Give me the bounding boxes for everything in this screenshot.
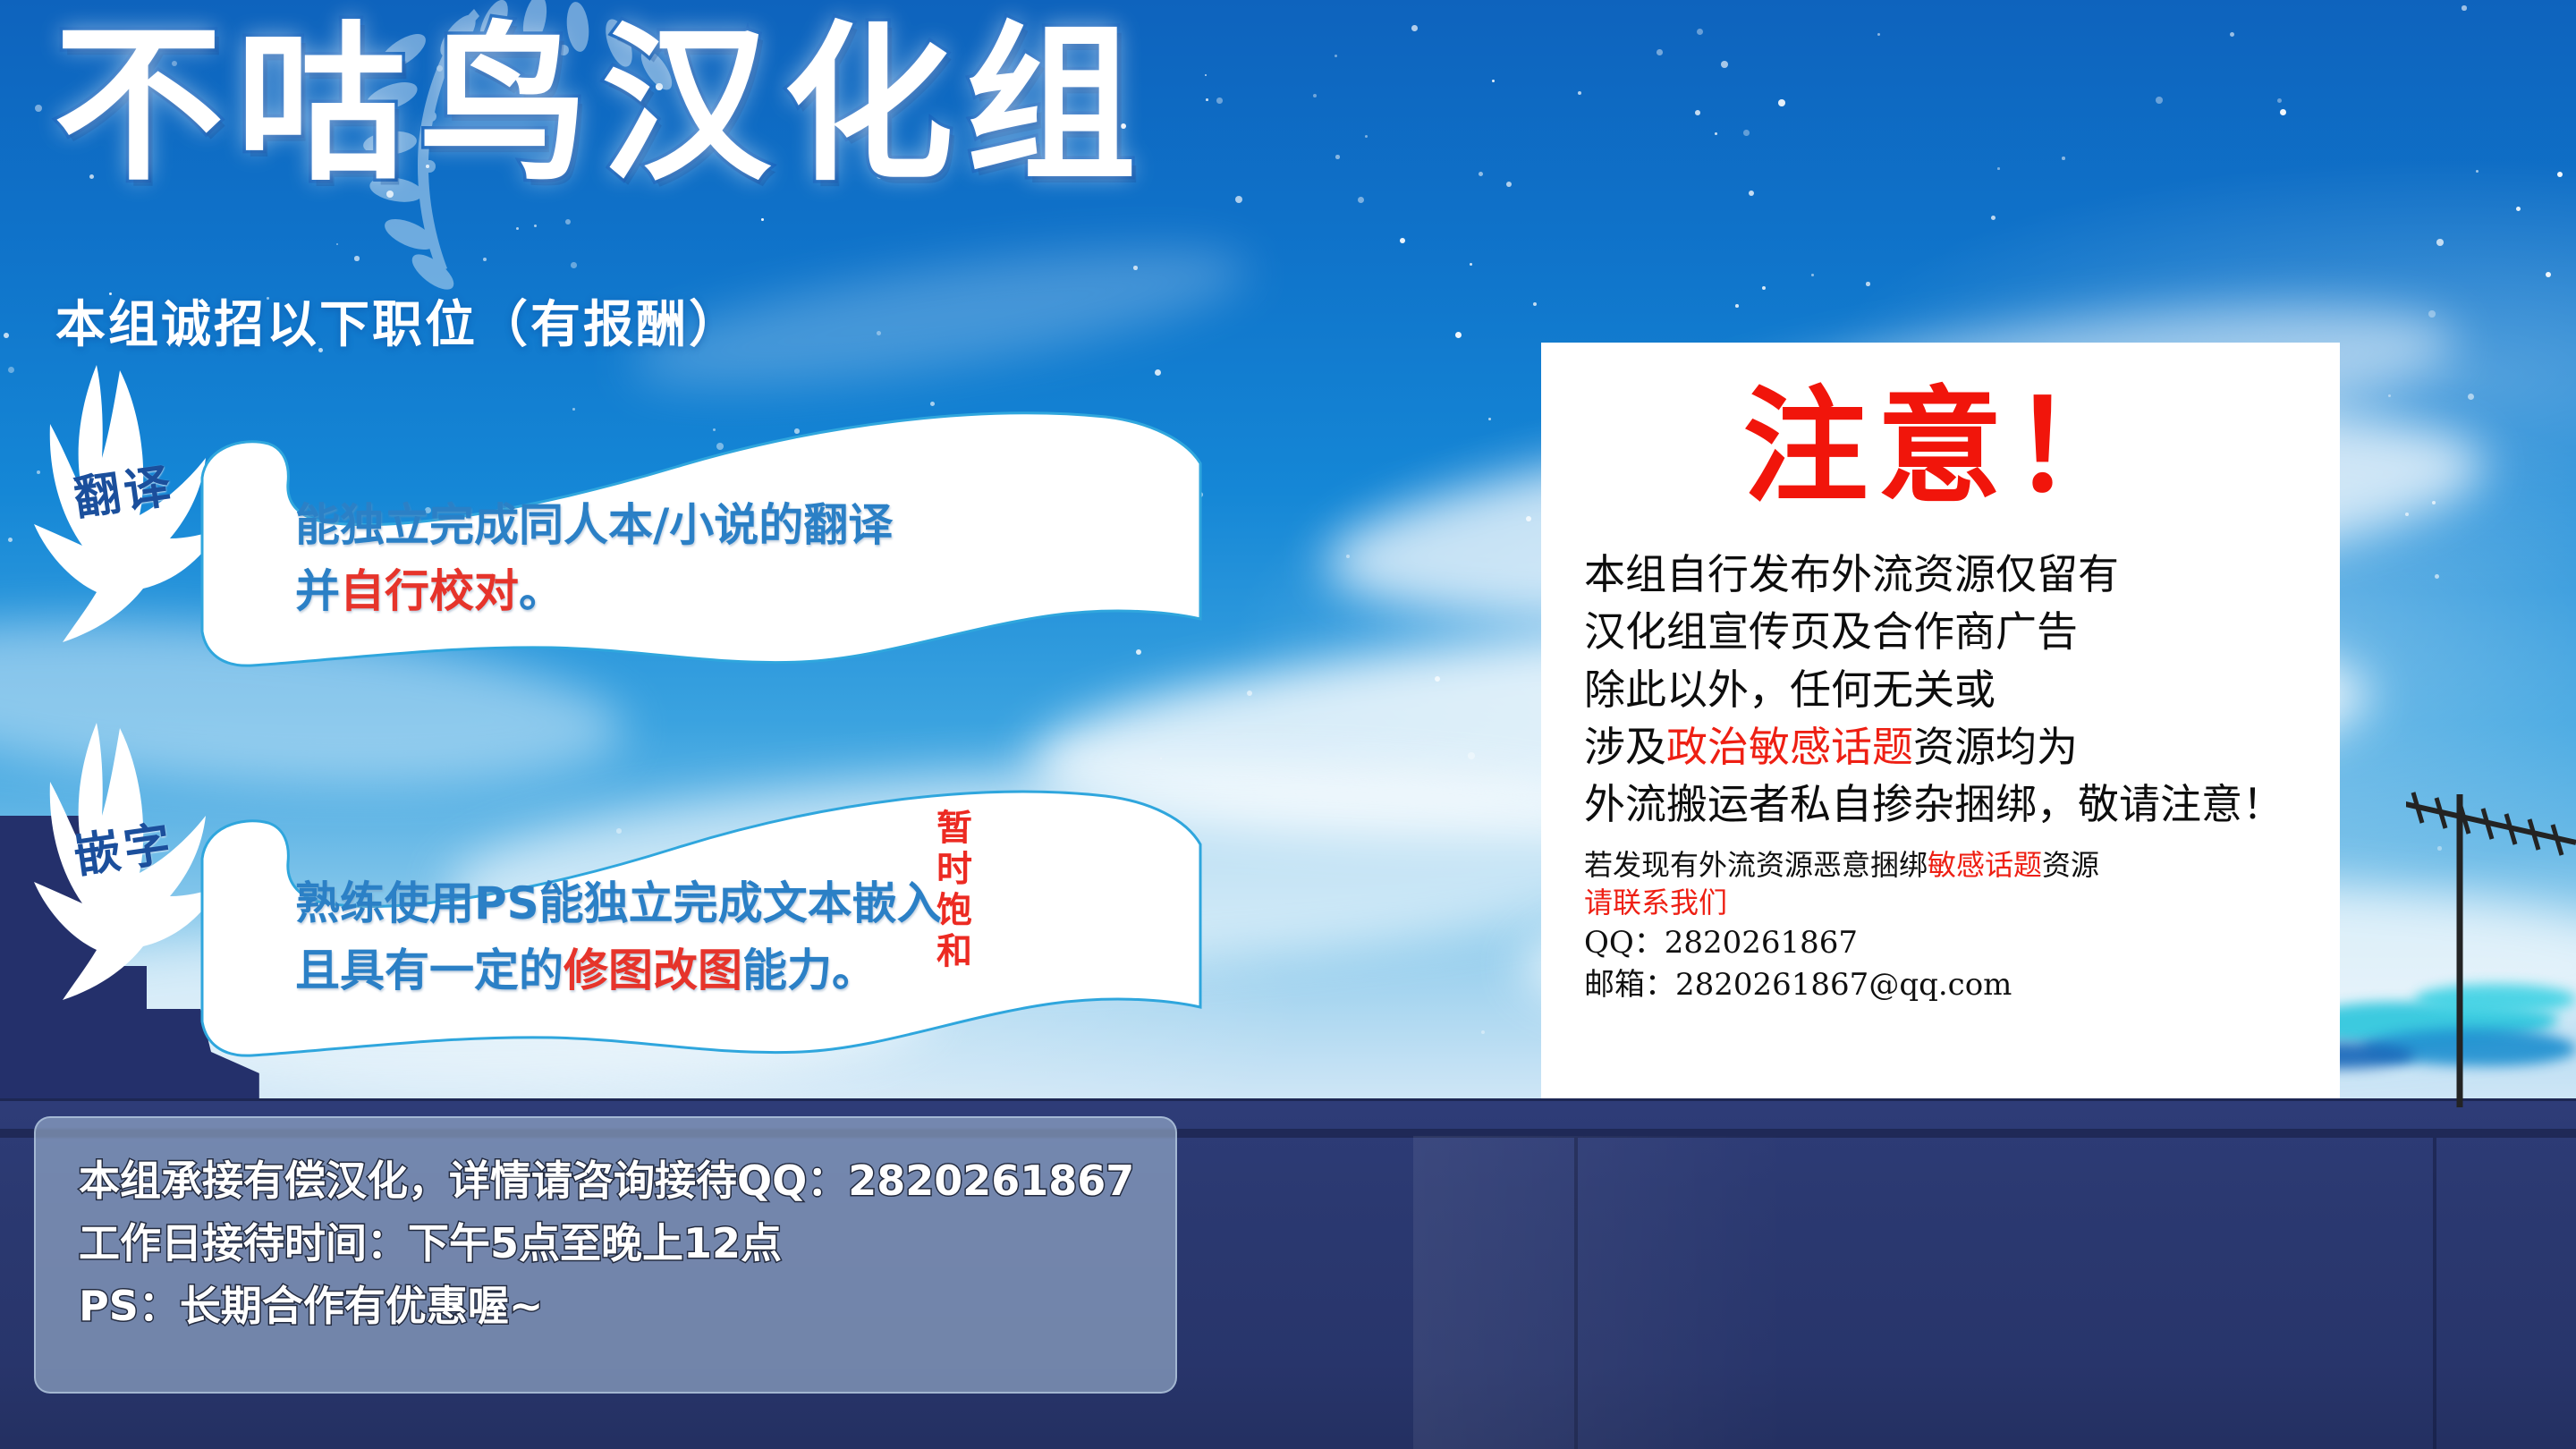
- role-req-text: 能独立完成同人本/小说的翻译: [295, 499, 893, 551]
- role-req-text: 熟练使用PS能独立完成文本嵌入: [295, 877, 942, 929]
- sparkle-dot: [1205, 74, 1207, 76]
- sparkle-dot: [2405, 513, 2409, 516]
- page-title: 不咕鸟汉化组: [54, 16, 1148, 195]
- wall-seam: [2433, 1138, 2436, 1449]
- footer-info-box: 本组承接有偿汉化，详情请咨询接待QQ：2820261867 工作日接待时间：下午…: [34, 1116, 1177, 1394]
- sparkle-dot: [1778, 99, 1785, 106]
- sparkle-dot: [2277, 98, 2282, 103]
- sparkle-dot: [1358, 197, 1364, 203]
- notice-line-5: 外流搬运者私自掺杂捆绑，敬请注意！: [1584, 775, 2304, 833]
- promo-page: 不咕鸟汉化组 本组诚招以下职位（有报酬） 翻译 能独立完成同人本/小说的翻译 并…: [0, 0, 2576, 1449]
- role-requirement-line2: 并自行校对。: [295, 560, 563, 623]
- sparkle-dot: [877, 331, 881, 335]
- role-req-suffix: 。: [519, 565, 563, 617]
- sparkle-dot: [1492, 80, 1495, 82]
- sparkle-dot: [1866, 282, 1870, 286]
- role-req-suffix: 能力。: [742, 945, 877, 996]
- footer-line-1: 本组承接有偿汉化，详情请咨询接待QQ：2820261867: [79, 1150, 1175, 1213]
- sparkle-dot: [1743, 130, 1750, 136]
- sparkle-dot: [1811, 274, 1814, 276]
- role-requirement-line2: 且具有一定的修图改图能力。: [295, 939, 877, 1003]
- sparkle-dot: [2557, 172, 2563, 177]
- notice-line-4-highlight: 政治敏感话题: [1666, 723, 1913, 771]
- role-label: 嵌字: [69, 806, 177, 886]
- role-req-prefix: 并: [295, 565, 340, 617]
- notice-contact-prompt: 请联系我们: [1584, 884, 2304, 922]
- notice-small-1: 若发现有外流资源恶意捆绑敏感话题资源: [1584, 846, 2304, 885]
- sparkle-dot: [1400, 238, 1405, 243]
- sparkle-dot: [761, 218, 764, 221]
- sparkle-dot: [2462, 5, 2467, 11]
- sparkle-dot: [2062, 157, 2065, 160]
- sparkle-dot: [2435, 574, 2439, 579]
- notice-email: 邮箱：2820261867@qq.com: [1584, 964, 2304, 1006]
- role-card-typesetter: 嵌字 熟练使用PS能独立完成文本嵌入 且具有一定的修图改图能力。 暂时饱和: [27, 716, 1207, 1073]
- tv-antenna-icon: [2406, 787, 2576, 1109]
- notice-line-1: 本组自行发布外流资源仅留有: [1584, 546, 2304, 603]
- role-req-highlight: 自行校对: [340, 565, 519, 617]
- sparkle-dot: [2436, 239, 2444, 246]
- sparkle-dot: [1479, 172, 1483, 176]
- sparkle-dot: [1657, 49, 1663, 55]
- role-requirement-line1: 熟练使用PS能独立完成文本嵌入: [295, 872, 942, 936]
- role-label: 翻译: [69, 448, 177, 529]
- notice-line-4-suffix: 资源均为: [1913, 723, 2078, 771]
- role-status-badge: 暂时饱和: [932, 809, 970, 973]
- sparkle-dot: [1133, 266, 1138, 270]
- footer-line-3: PS：长期合作有优惠喔~: [79, 1275, 1175, 1338]
- notice-line-4: 涉及政治敏感话题资源均为: [1584, 718, 2304, 775]
- sparkle-dot: [1749, 191, 1754, 196]
- sparkle-dot: [1346, 555, 1350, 558]
- sparkle-dot: [1715, 132, 1717, 135]
- notice-small-highlight: 敏感话题: [1928, 848, 2042, 882]
- sparkle-dot: [1235, 196, 1242, 203]
- sparkle-dot: [4, 333, 9, 338]
- notice-title: 注意！: [1584, 378, 2304, 519]
- sparkle-dot: [1721, 61, 1728, 68]
- notice-line-2: 汉化组宣传页及合作商广告: [1584, 603, 2304, 660]
- sparkle-dot: [1578, 91, 1581, 95]
- sparkle-dot: [1468, 752, 1475, 759]
- sparkle-dot: [1997, 167, 2000, 170]
- sparkle-dot: [1206, 98, 1208, 101]
- sparkle-dot: [1877, 33, 1880, 36]
- sparkle-dot: [1991, 216, 1996, 220]
- sparkle-dot: [1735, 304, 1739, 308]
- sparkle-dot: [1216, 97, 1223, 104]
- notice-small-suffix: 资源: [2042, 848, 2099, 882]
- wall-highlight: [1413, 1136, 1789, 1449]
- sparkle-dot: [1335, 155, 1340, 159]
- notice-line-4-prefix: 涉及: [1584, 723, 1666, 771]
- role-card-translator: 翻译 能独立完成同人本/小说的翻译 并自行校对。: [27, 358, 1207, 680]
- sparkle-dot: [1411, 25, 1418, 31]
- notice-qq: QQ：2820261867: [1584, 922, 2304, 964]
- role-requirement-line1: 能独立完成同人本/小说的翻译: [295, 494, 893, 557]
- role-req-highlight: 修图改图: [563, 945, 742, 996]
- page-subtitle: 本组诚招以下职位（有报酬）: [55, 284, 741, 357]
- role-req-prefix: 且具有一定的: [295, 945, 563, 996]
- notice-small-prefix: 若发现有外流资源恶意捆绑: [1584, 848, 1928, 882]
- notice-line-3: 除此以外，任何无关或: [1584, 661, 2304, 718]
- sparkle-dot: [2156, 97, 2163, 104]
- sparkle-dot: [2428, 310, 2436, 318]
- sparkle-dot: [2280, 109, 2286, 115]
- sparkle-dot: [35, 105, 42, 112]
- sparkle-dot: [1526, 516, 1531, 521]
- sparkle-dot: [1435, 676, 1440, 682]
- notice-panel: 注意！ 本组自行发布外流资源仅留有 汉化组宣传页及合作商广告 除此以外，任何无关…: [1541, 343, 2340, 1098]
- footer-line-2: 工作日接待时间：下午5点至晚上12点: [79, 1213, 1175, 1275]
- sparkle-dot: [1470, 263, 1472, 266]
